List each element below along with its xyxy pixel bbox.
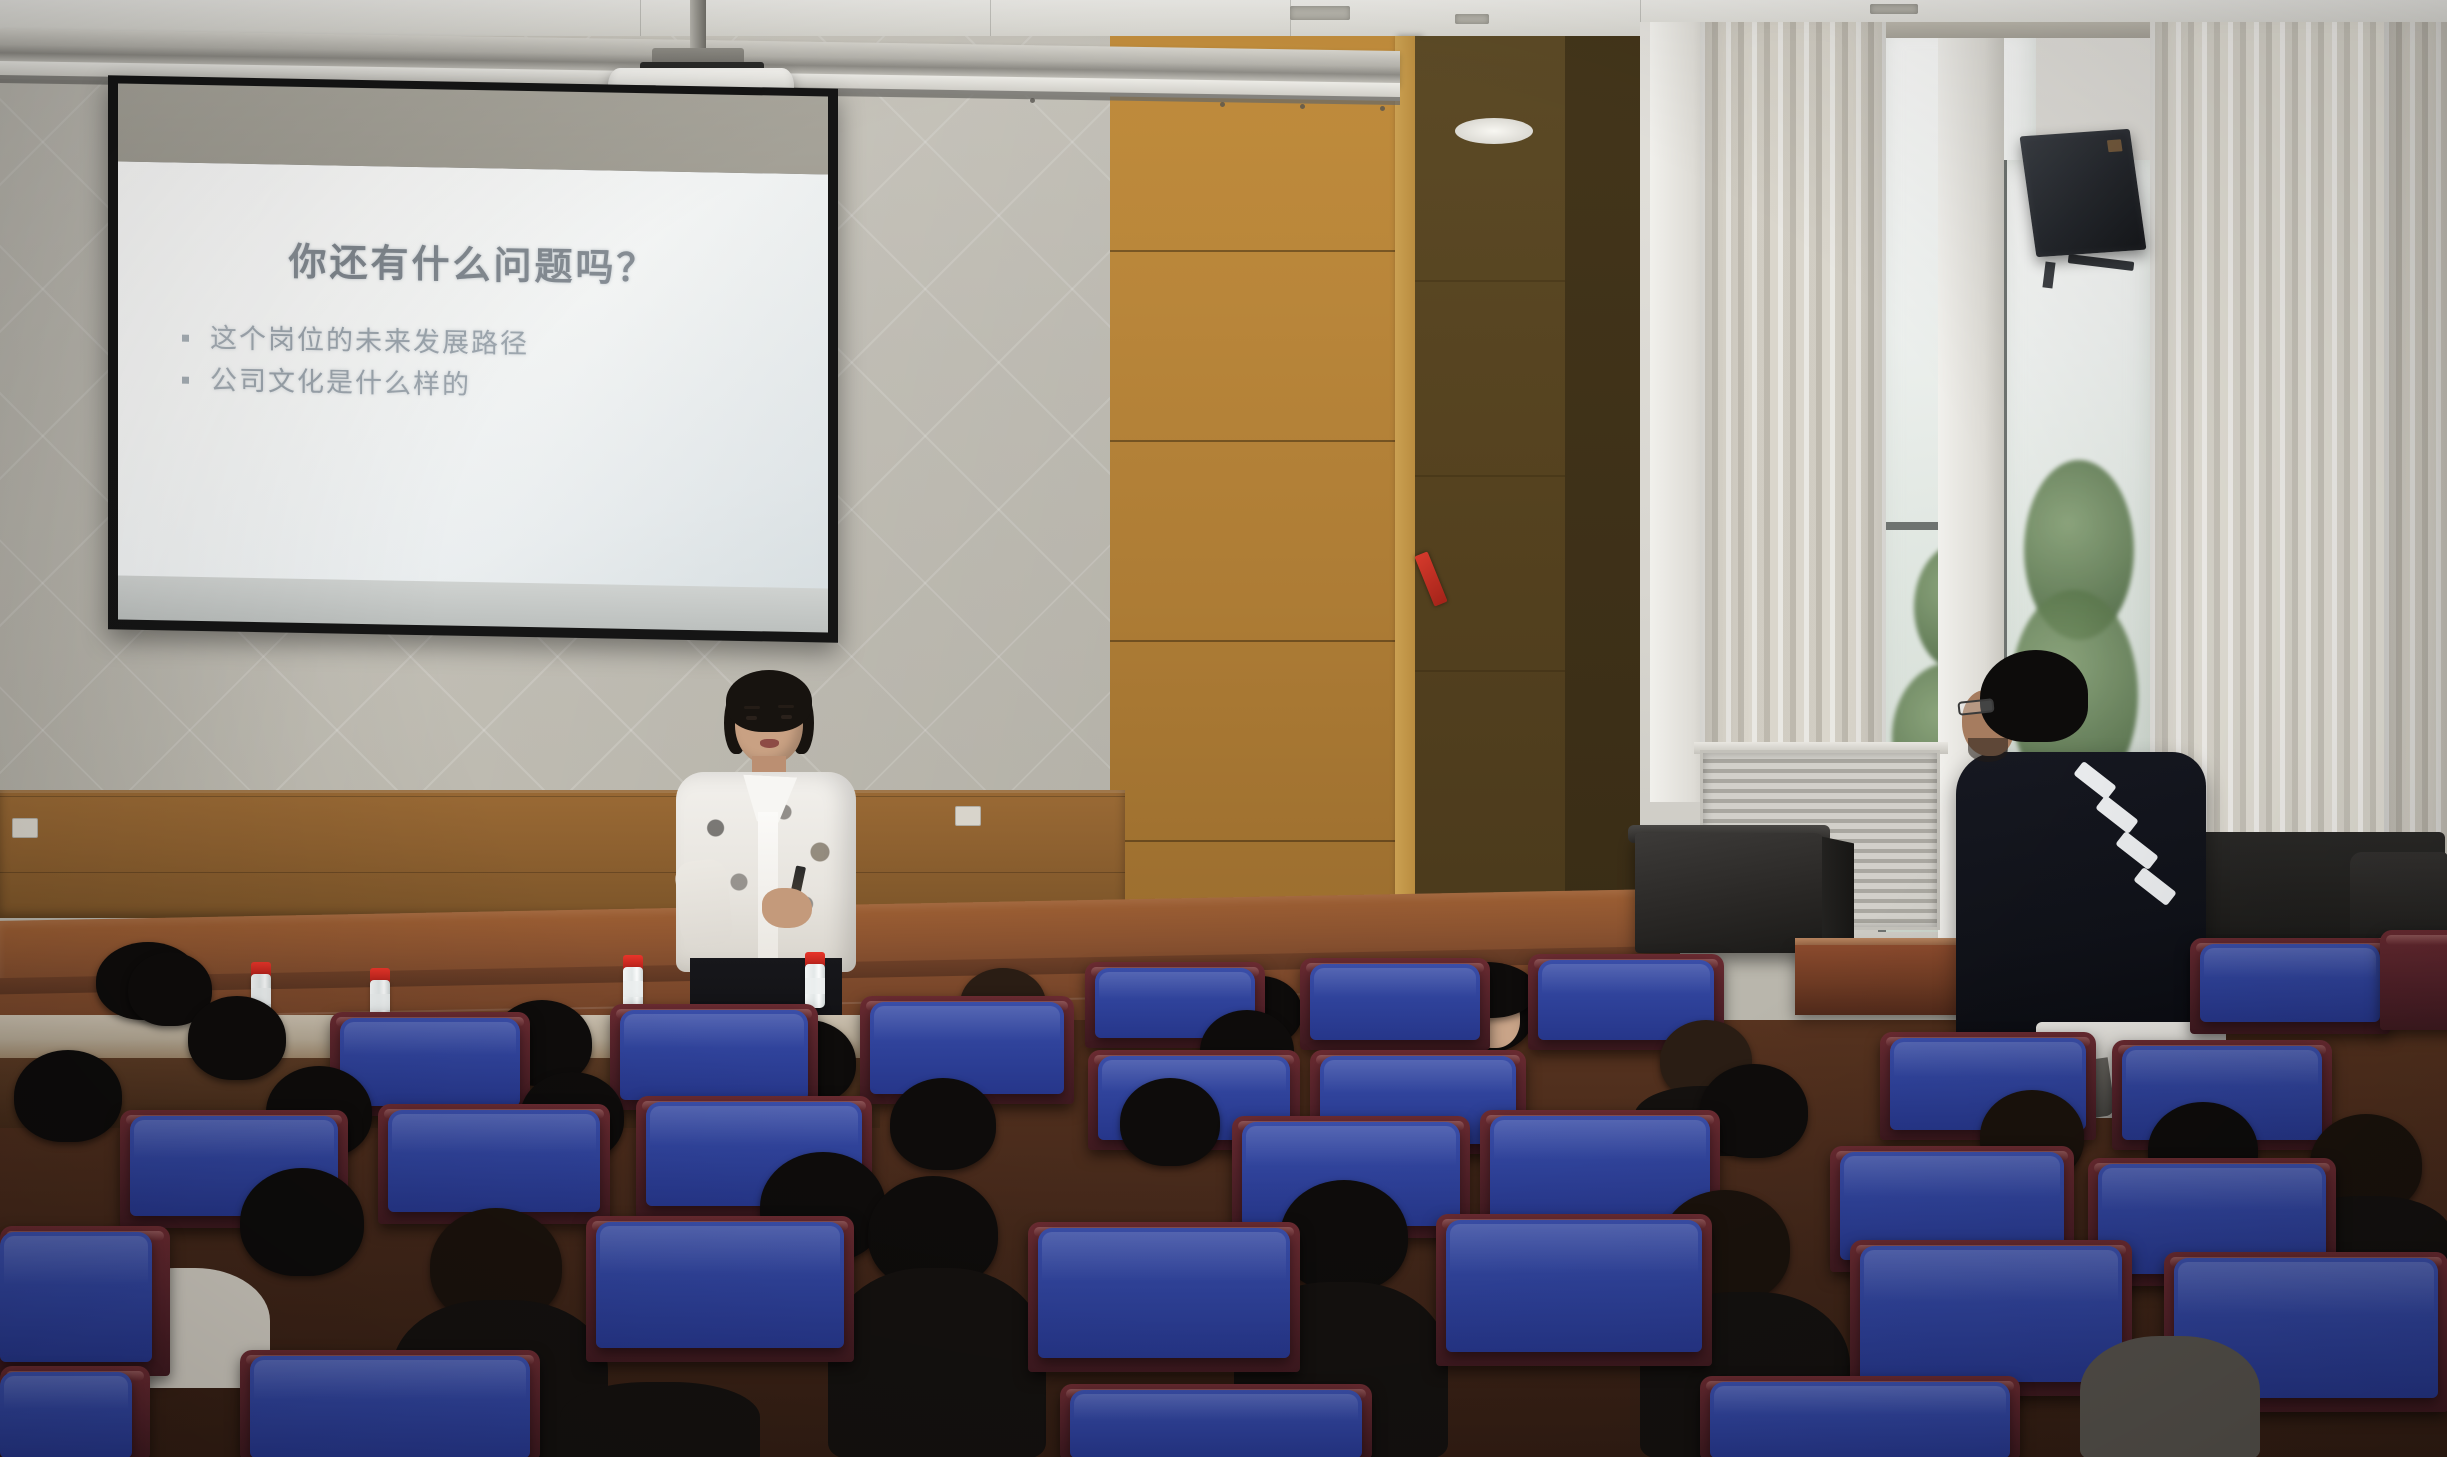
audience-head [890, 1078, 996, 1170]
seat-back[interactable] [1860, 1246, 2122, 1382]
slide-bullet-list: 这个岗位的未来发展路径 公司文化是什么样的 [172, 317, 804, 412]
audience-head [240, 1168, 364, 1276]
audience-shoulders [828, 1268, 1046, 1457]
seat-back[interactable] [0, 1372, 132, 1457]
projector-pipe [690, 0, 706, 54]
presenter-hands [762, 888, 812, 928]
seat-back[interactable] [1038, 1228, 1290, 1358]
seat-back[interactable] [596, 1222, 844, 1348]
wainscot-seam [0, 796, 1125, 797]
seat-back[interactable] [1446, 1220, 1702, 1352]
sweatshirt-stripe [2133, 867, 2177, 906]
av-console-side [1822, 837, 1854, 948]
wall-speaker-icon [2020, 129, 2147, 258]
presenter-arm [674, 858, 735, 949]
wood-panel-seam [1415, 670, 1573, 672]
duct-fixture [1380, 106, 1385, 111]
audience-head [188, 996, 286, 1080]
av-console[interactable] [1635, 833, 1825, 953]
seat-frame[interactable] [2380, 930, 2447, 1030]
seat-back[interactable] [2200, 944, 2380, 1022]
lecture-hall-photo: EPSON 你还有什么问题吗？ 这个岗位的未来发展路径 公司文化是什么样的 [0, 0, 2447, 1457]
wainscot-seam [0, 872, 1125, 873]
sweatshirt-stripe [2115, 831, 2159, 870]
presenter-mouth [760, 739, 779, 748]
presenter-hair [726, 670, 812, 732]
seat-back[interactable] [250, 1356, 530, 1457]
attendee-sweatshirt [1956, 752, 2206, 1052]
slide-surface: 你还有什么问题吗？ 这个岗位的未来发展路径 公司文化是什么样的 [118, 161, 828, 626]
ceiling-light [1455, 118, 1533, 144]
seat-back[interactable] [1070, 1390, 1362, 1457]
speaker-badge [2107, 139, 2123, 152]
presenter-eye [746, 716, 757, 720]
seat-back[interactable] [870, 1002, 1064, 1094]
sweatshirt-stripe [2095, 795, 2139, 834]
presenter-eyebrow [778, 705, 794, 708]
seat-back[interactable] [0, 1232, 152, 1362]
wood-panel-seam [1110, 440, 1422, 442]
screen-top-masking [118, 83, 828, 174]
sweatshirt-stripe [2073, 761, 2117, 800]
ceiling-vent [1455, 14, 1489, 24]
seat-back[interactable] [1490, 1116, 1710, 1222]
audience-head [1120, 1078, 1220, 1166]
audience-shoulders [2080, 1336, 2260, 1457]
audience-shoulders [560, 1382, 760, 1457]
duct-fixture [1300, 104, 1305, 109]
seat-back[interactable] [388, 1110, 600, 1212]
presenter-eyebrow [744, 706, 760, 709]
seat-back[interactable] [620, 1010, 808, 1100]
wood-panel-seam [1110, 250, 1422, 252]
power-outlet[interactable] [955, 806, 981, 826]
wood-panel-seam [1110, 840, 1422, 842]
attendee-beard [1968, 738, 2008, 762]
presenter-shirt-placket [758, 812, 778, 962]
attendee-hair [1980, 650, 2088, 742]
wood-panel-seam [1415, 475, 1573, 477]
presenter-eye [781, 715, 792, 719]
audience-head [14, 1050, 122, 1142]
wood-panel-seam [1415, 280, 1573, 282]
duct-fixture [1030, 98, 1035, 103]
curtain-panel[interactable] [2384, 22, 2447, 952]
slide-title: 你还有什么问题吗？ [118, 227, 828, 295]
power-outlet[interactable] [12, 818, 38, 838]
wood-panel-wall [1110, 36, 1420, 906]
projection-screen: 你还有什么问题吗？ 这个岗位的未来发展路径 公司文化是什么样的 [108, 75, 838, 642]
bench-arm [2350, 852, 2447, 942]
ceiling-vent [1290, 6, 1350, 20]
duct-fixture [1220, 102, 1225, 107]
seat-back[interactable] [1710, 1382, 2010, 1457]
seat-back[interactable] [1310, 964, 1480, 1040]
recessed-wood-wall [1415, 36, 1570, 936]
ceiling-vent [1870, 4, 1918, 14]
wood-panel-seam [1110, 640, 1422, 642]
recessed-wood-wall-far [1565, 36, 1650, 936]
